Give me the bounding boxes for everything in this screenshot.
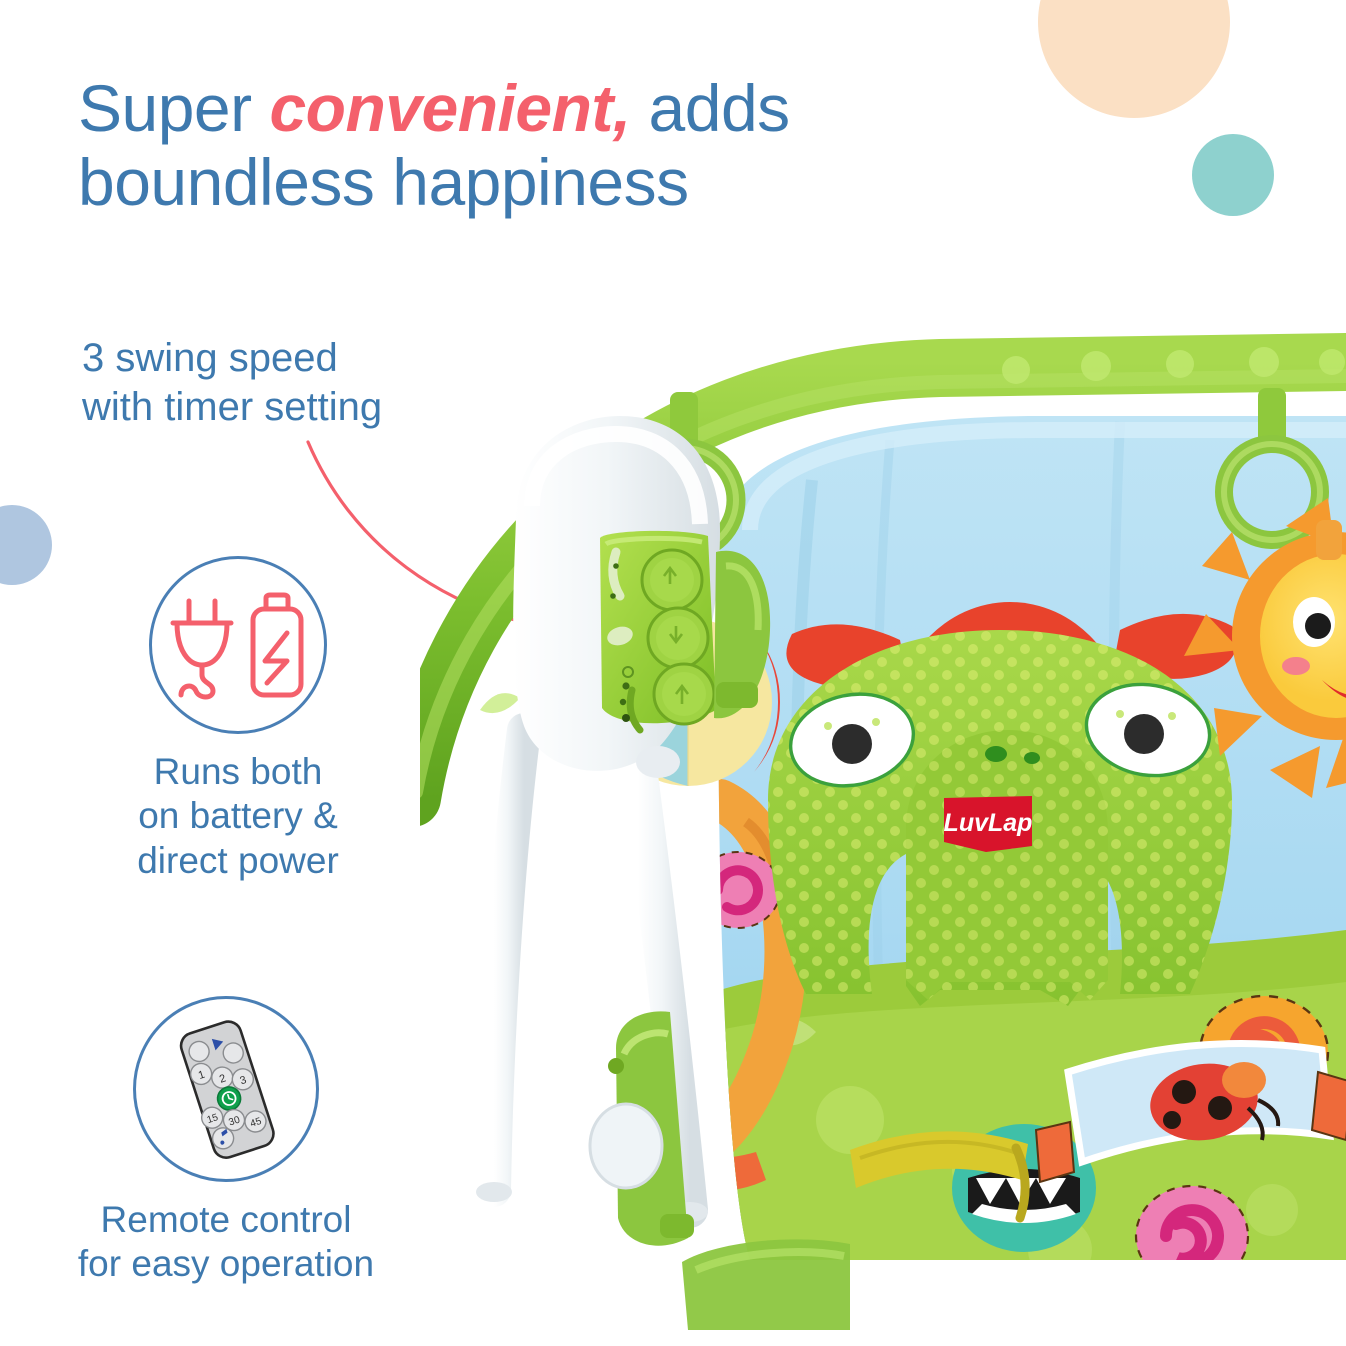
feature-remote: 1 2 3 15 30 45 [26,996,426,1287]
feature-remote-caption-line2: for easy operation [11,1242,441,1286]
brand-label: LuvLap [944,796,1033,852]
feature-power-caption-line1: Runs both [38,750,438,794]
feature-power: Runs both on battery & direct power [38,556,438,883]
feature-remote-caption: Remote control for easy operation [11,1198,441,1287]
remote-control-icon: 1 2 3 15 30 45 [133,996,319,1182]
control-panel-buttons [642,550,714,724]
promo-banner: Super convenient, adds boundless happine… [0,0,1346,1346]
decorative-circle-teal [1192,134,1274,216]
feature-power-caption-line3: direct power [38,839,438,883]
headline-accent: convenient, [269,71,630,145]
feature-power-caption: Runs both on battery & direct power [38,750,438,883]
feature-power-caption-line2: on battery & [38,794,438,838]
brand-label-text: LuvLap [944,809,1033,837]
decorative-circle-peach [1038,0,1230,118]
plug-battery-icon [149,556,327,734]
print-snail-pink-left [696,852,780,928]
headline-part1: Super [78,71,269,145]
product-image-baby-swing: LuvLap [420,330,1346,1346]
frog-head-pillow: LuvLap [768,630,1232,1006]
print-lollipop-pink [1136,1186,1248,1286]
feature-remote-caption-line1: Remote control [11,1198,441,1242]
headline: Super convenient, adds boundless happine… [78,72,978,220]
control-panel [600,531,716,730]
